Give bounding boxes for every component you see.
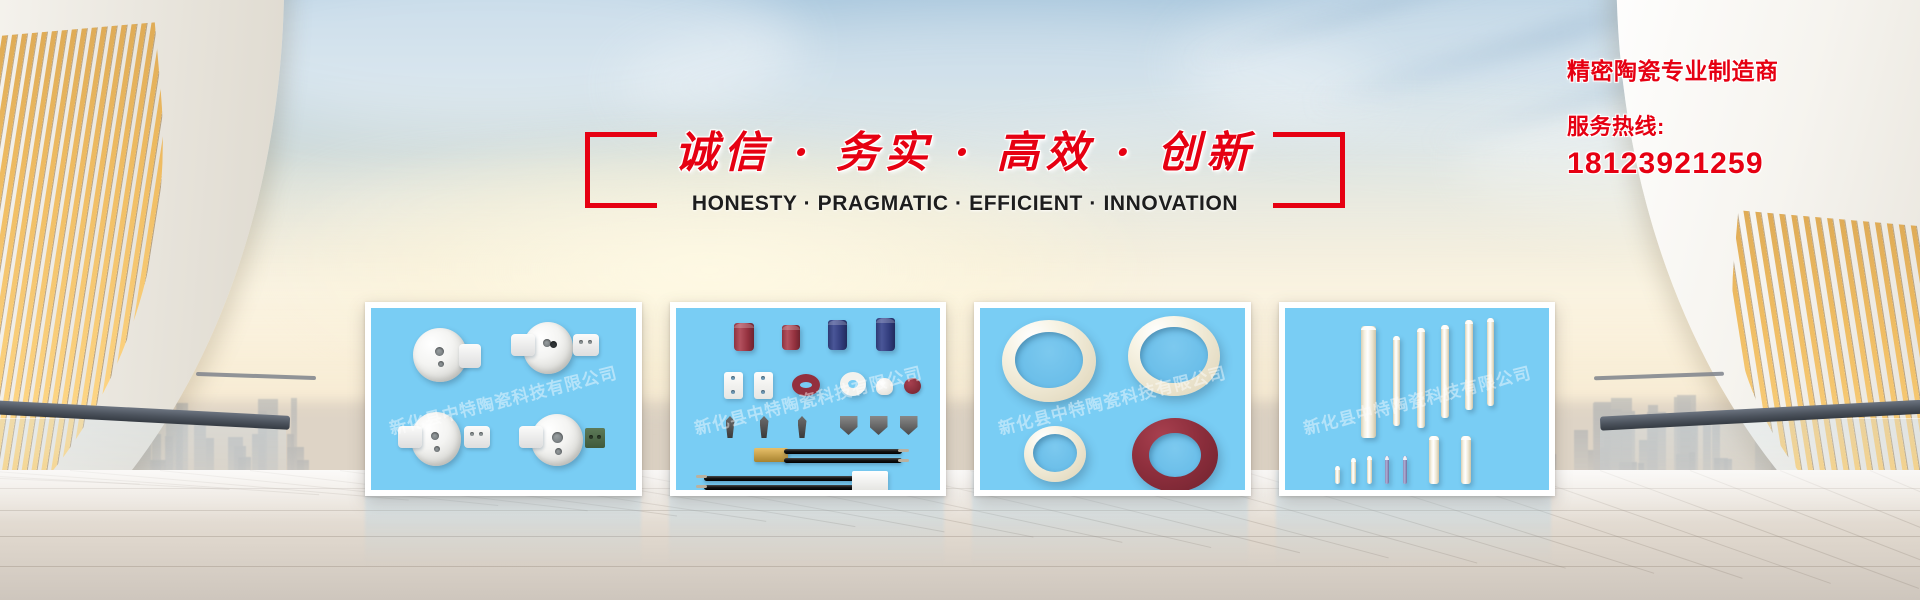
ceramic-rod — [1487, 318, 1494, 406]
product-panel-ceramic-rods[interactable]: 新化县中特陶瓷科技有限公司 — [1279, 302, 1556, 496]
socket-hole — [431, 432, 439, 440]
ceramic-tube-navy — [828, 320, 847, 350]
ceramic-ring-small — [1024, 426, 1086, 482]
ceramic-cap-maroon — [904, 378, 921, 394]
metal-blade-contact — [798, 416, 807, 438]
ceramic-tube-maroon — [734, 323, 754, 351]
ceramic-ring-large — [1002, 320, 1096, 402]
lead-wire — [784, 458, 902, 463]
socket-hole — [435, 347, 444, 356]
wire-tip — [898, 459, 909, 462]
plate-hole — [761, 376, 765, 380]
slogan-chinese: 诚信 · 务实 · 高效 · 创新 — [585, 118, 1345, 180]
socket-hole — [552, 432, 563, 443]
metal-blade-contact — [760, 416, 769, 438]
ceramic-rod — [1441, 325, 1449, 418]
ceramic-rod — [1417, 328, 1425, 428]
slogan-block: 诚信 · 务实 · 高效 · 创新 HONESTY · PRAGMATIC · … — [585, 132, 1345, 240]
product-panel-ceramic-tubes-contacts[interactable]: 新化县中特陶瓷科技有限公司 — [670, 302, 947, 496]
handrail-thin-right — [1594, 372, 1724, 381]
ceramic-cap-white — [876, 378, 893, 395]
ring-bore — [1149, 433, 1201, 477]
plate-hole — [731, 376, 735, 380]
socket-side-tab — [519, 426, 543, 448]
ceramic-rod — [1465, 320, 1473, 410]
socket-hole — [434, 446, 440, 452]
metal-blade-contact — [726, 416, 735, 438]
ceramic-plate — [754, 372, 773, 399]
slogan-english: HONESTY · PRAGMATIC · EFFICIENT · INNOVA… — [585, 192, 1345, 216]
lead-wire — [704, 485, 854, 490]
metal-clip-contact — [870, 416, 888, 435]
ceramic-rod-short — [1351, 458, 1356, 484]
panel-image-stage: 新化县中特陶瓷科技有限公司 — [676, 308, 941, 490]
lead-wire — [704, 476, 854, 481]
lamp-socket — [411, 412, 475, 466]
socket-connector — [585, 428, 605, 448]
lead-wire — [784, 449, 902, 454]
watermark-text: 新化县中特陶瓷科技有限公司 — [691, 359, 924, 440]
lamp-socket — [523, 322, 585, 374]
ring-bore — [1140, 327, 1208, 383]
socket-side-tab — [459, 344, 481, 368]
ceramic-rod-short — [1367, 456, 1372, 484]
white-connector-housing — [852, 471, 888, 490]
lamp-socket — [531, 414, 597, 466]
panel-image-stage: 新化县中特陶瓷科技有限公司 — [371, 308, 636, 490]
ceramic-rod-thick — [1361, 326, 1376, 438]
ceramic-rod-medium — [1461, 436, 1471, 484]
socket-pin — [589, 435, 593, 439]
lamp-socket — [413, 328, 467, 382]
ceramic-rod-medium — [1429, 436, 1439, 484]
floor-tile-line — [0, 536, 1920, 537]
metal-clip-contact — [900, 416, 918, 435]
panel-image-stage: 新化县中特陶瓷科技有限公司 — [1285, 308, 1550, 490]
wire-tip — [898, 449, 909, 452]
ceramic-tube-maroon — [782, 325, 800, 350]
promo-banner: 诚信 · 务实 · 高效 · 创新 HONESTY · PRAGMATIC · … — [0, 0, 1920, 600]
ceramic-ring-white — [840, 372, 866, 396]
hotline-phone-number[interactable]: 18123921259 — [1567, 147, 1897, 181]
brass-terminal — [754, 448, 788, 462]
socket-pin — [588, 340, 592, 344]
ceramic-rod-violet — [1403, 456, 1407, 484]
product-panel-ceramic-lamp-sockets[interactable]: 新化县中特陶瓷科技有限公司 — [365, 302, 642, 496]
socket-side-tab — [398, 426, 422, 448]
ceramic-plate — [724, 372, 743, 399]
plate-hole — [761, 390, 765, 394]
product-panel-row: 新化县中特陶瓷科技有限公司 — [365, 302, 1555, 496]
ring-bore — [1015, 332, 1083, 388]
socket-pin — [597, 435, 601, 439]
wire-tip — [696, 475, 707, 478]
ceramic-rod-violet — [1385, 456, 1389, 484]
ceramic-tube-navy — [876, 318, 895, 351]
ring-bore — [1033, 434, 1077, 472]
product-panel-ceramic-rings[interactable]: 新化县中特陶瓷科技有限公司 — [974, 302, 1251, 496]
ceramic-ring-maroon — [792, 374, 820, 396]
ceramic-rod-short — [1335, 466, 1340, 484]
socket-hole — [438, 361, 444, 367]
socket-hole — [555, 448, 562, 455]
contact-block: 精密陶瓷专业制造商 服务热线: 18123921259 — [1567, 52, 1897, 181]
handrail-thin-left — [196, 372, 316, 380]
ceramic-rod — [1393, 336, 1400, 426]
socket-side-tab — [511, 334, 535, 356]
hotline-label: 服务热线: — [1567, 109, 1897, 141]
socket-side-tab — [464, 426, 490, 448]
metal-clip-contact — [840, 416, 858, 435]
socket-pin — [470, 432, 474, 436]
ceramic-ring-large — [1128, 316, 1220, 396]
panel-image-stage: 新化县中特陶瓷科技有限公司 — [980, 308, 1245, 490]
socket-pin — [479, 432, 483, 436]
socket-side-tab — [573, 334, 599, 356]
socket-hole — [550, 341, 557, 348]
manufacturer-tagline: 精密陶瓷专业制造商 — [1567, 52, 1897, 86]
wire-tip — [696, 485, 707, 488]
ceramic-ring-maroon-flat — [1132, 418, 1218, 490]
plate-hole — [731, 390, 735, 394]
socket-pin — [579, 340, 583, 344]
